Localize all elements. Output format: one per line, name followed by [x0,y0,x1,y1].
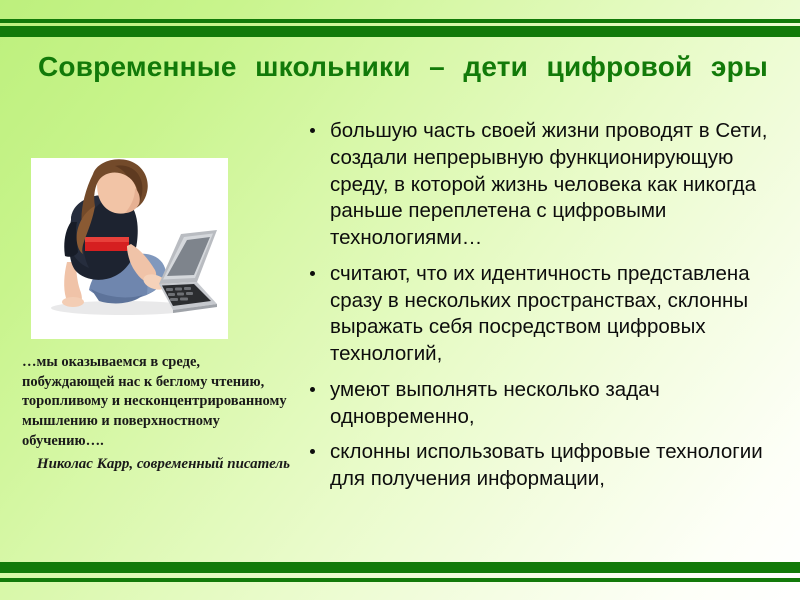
bullet-list: большую часть своей жизни проводят в Сет… [305,118,785,502]
top-thick-divider [0,26,800,37]
photo-illustration [31,158,228,339]
bottom-thin-divider [0,578,800,582]
bullet-dot-icon [310,449,315,454]
quote-text: …мы оказываемся в среде, побуждающей нас… [22,353,294,452]
list-item-label: считают, что их идентичность представлен… [330,262,750,365]
bullet-dot-icon [310,387,315,392]
girl-with-laptop-photo [31,158,228,339]
list-item-label: умеют выполнять несколько задач одноврем… [330,378,660,428]
bullet-dot-icon [310,271,315,276]
left-column: …мы оказываемся в среде, побуждающей нас… [14,158,294,474]
page-title: Современные школьники – дети цифровой эр… [38,50,768,119]
list-item: считают, что их идентичность представлен… [305,261,785,368]
bullet-dot-icon [310,128,315,133]
bottom-thick-divider [0,562,800,573]
list-item: умеют выполнять несколько задач одноврем… [305,377,785,431]
list-item: большую часть своей жизни проводят в Сет… [305,118,785,252]
quote-attribution: Николас Карр, современный писатель [22,454,294,475]
list-item: склонны использовать цифровые технологии… [305,439,785,493]
list-item-label: склонны использовать цифровые технологии… [330,440,763,490]
top-thin-divider [0,19,800,23]
list-item-label: большую часть своей жизни проводят в Сет… [330,119,767,249]
slide: Современные школьники – дети цифровой эр… [0,0,800,600]
